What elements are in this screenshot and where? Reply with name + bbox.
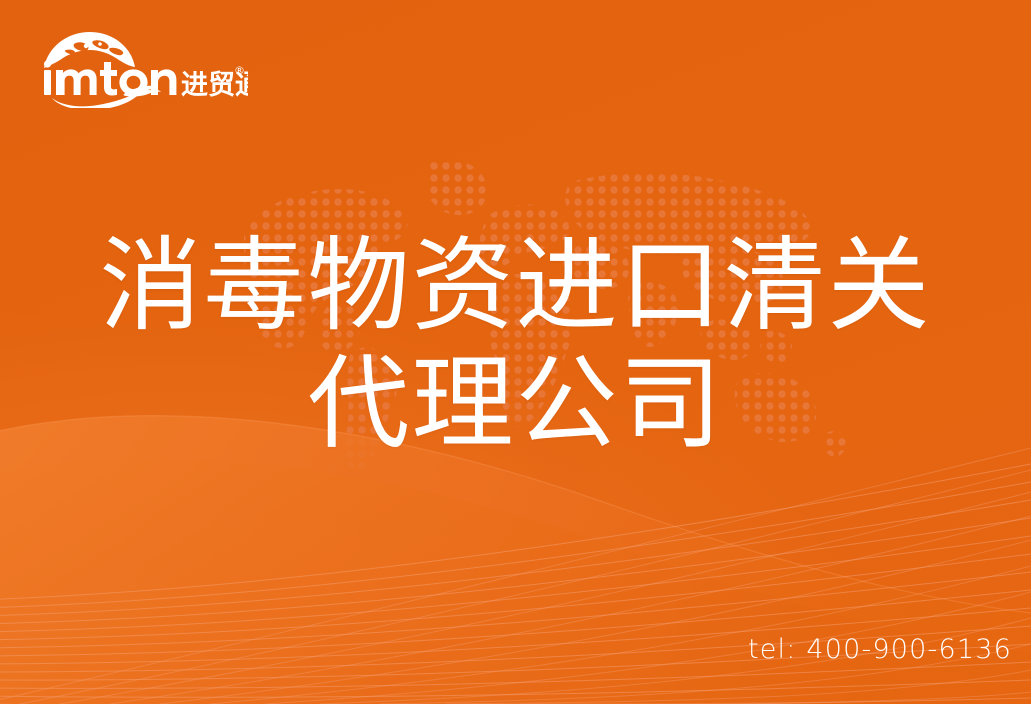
- globe-arc-icon: [44, 32, 135, 68]
- registered-mark: ®: [234, 64, 245, 77]
- contact-phone[interactable]: tel: 400-900-6136: [748, 634, 1012, 665]
- promo-banner: 进贸通 ® 消毒物资进口清关 代理公司 tel: 400-900-6136: [0, 0, 1031, 704]
- page-title: 消毒物资进口清关 代理公司: [0, 228, 1031, 464]
- headline-line-2: 代理公司: [0, 346, 1031, 464]
- headline-line-1: 消毒物资进口清关: [0, 228, 1031, 346]
- brand-logo[interactable]: 进贸通 ®: [38, 26, 248, 108]
